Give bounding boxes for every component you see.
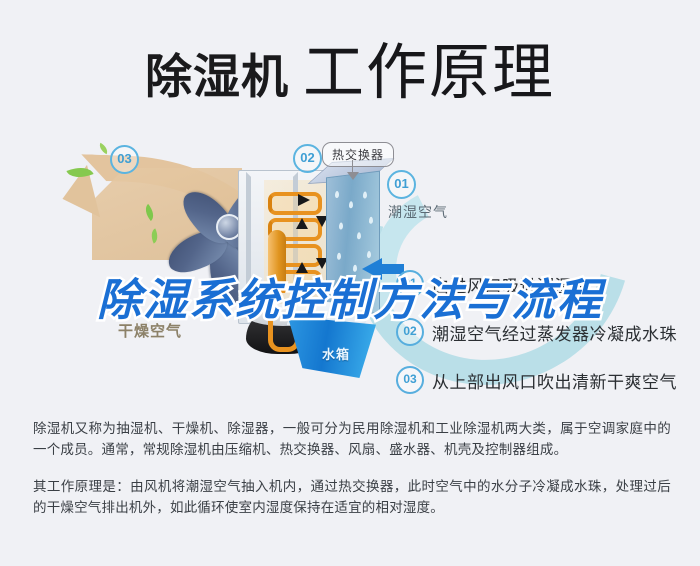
flow-arrow-up-icon [296, 218, 308, 229]
badge-step-03: 03 [110, 145, 139, 174]
step-number-badge: 03 [396, 366, 424, 394]
paragraph-1: 除湿机又称为抽湿机、干燥机、除湿器，一般可分为民用除湿机和工业除湿机两大类，属于… [33, 418, 671, 460]
heat-exchanger-callout: 热交换器 [322, 142, 394, 167]
body-copy: 除湿机又称为抽湿机、干燥机、除湿器，一般可分为民用除湿机和工业除湿机两大类，属于… [33, 418, 671, 534]
condenser-coil [268, 192, 322, 215]
flow-arrow-right-icon [298, 194, 310, 206]
paragraph-2: 其工作原理是：由风机将潮湿空气抽入机内，通过热交换器，此时空气中的水分子冷凝成水… [33, 476, 671, 518]
badge-step-01: 01 [387, 170, 416, 199]
page-title: 除湿机工作原理 [0, 22, 700, 114]
infographic-page: 除湿机工作原理 干燥空气 [0, 0, 700, 566]
step-text: 从上部出风口吹出清新干爽空气 [432, 368, 677, 393]
moist-air-label: 潮湿空气 [388, 202, 448, 222]
leaf-icon [97, 143, 110, 155]
badge-step-02: 02 [293, 144, 322, 173]
title-primary: 除湿机 [145, 50, 289, 103]
title-secondary: 工作原理 [303, 38, 555, 106]
callout-pointer-icon [347, 172, 359, 180]
overlay-watermark-title: 除湿系统控制方法与流程 [0, 264, 700, 328]
list-item: 03 从上部出风口吹出清新干爽空气 [396, 366, 696, 394]
water-tank-label: 水箱 [322, 344, 350, 363]
